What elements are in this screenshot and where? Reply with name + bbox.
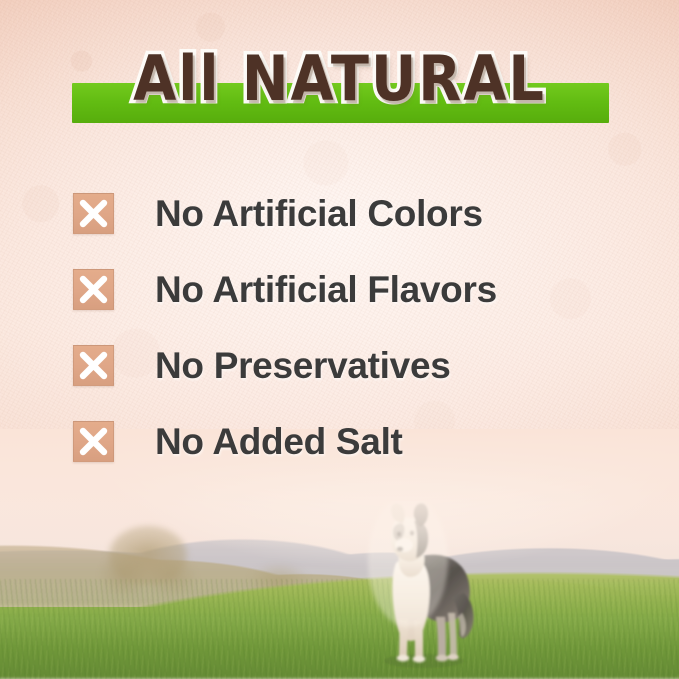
list-item: No Added Salt [73,403,633,479]
feature-label: No Artificial Flavors [155,271,497,308]
x-mark-icon [73,345,114,386]
feature-label: No Preservatives [155,347,451,384]
list-item: No Artificial Colors [73,175,633,251]
grass-texture [0,579,679,679]
list-item: No Preservatives [73,327,633,403]
feature-label: No Artificial Colors [155,195,483,232]
feature-list: No Artificial Colors No Artificial Flavo… [73,175,633,479]
all-natural-product-graphic: All NATURAL No Artificial Colors [0,0,679,679]
x-mark-icon [73,421,114,462]
x-mark-icon [73,269,114,310]
page-title: All NATURAL [0,48,679,110]
x-mark-icon [73,193,114,234]
list-item: No Artificial Flavors [73,251,633,327]
feature-label: No Added Salt [155,423,403,460]
dog-illustration [352,501,492,671]
